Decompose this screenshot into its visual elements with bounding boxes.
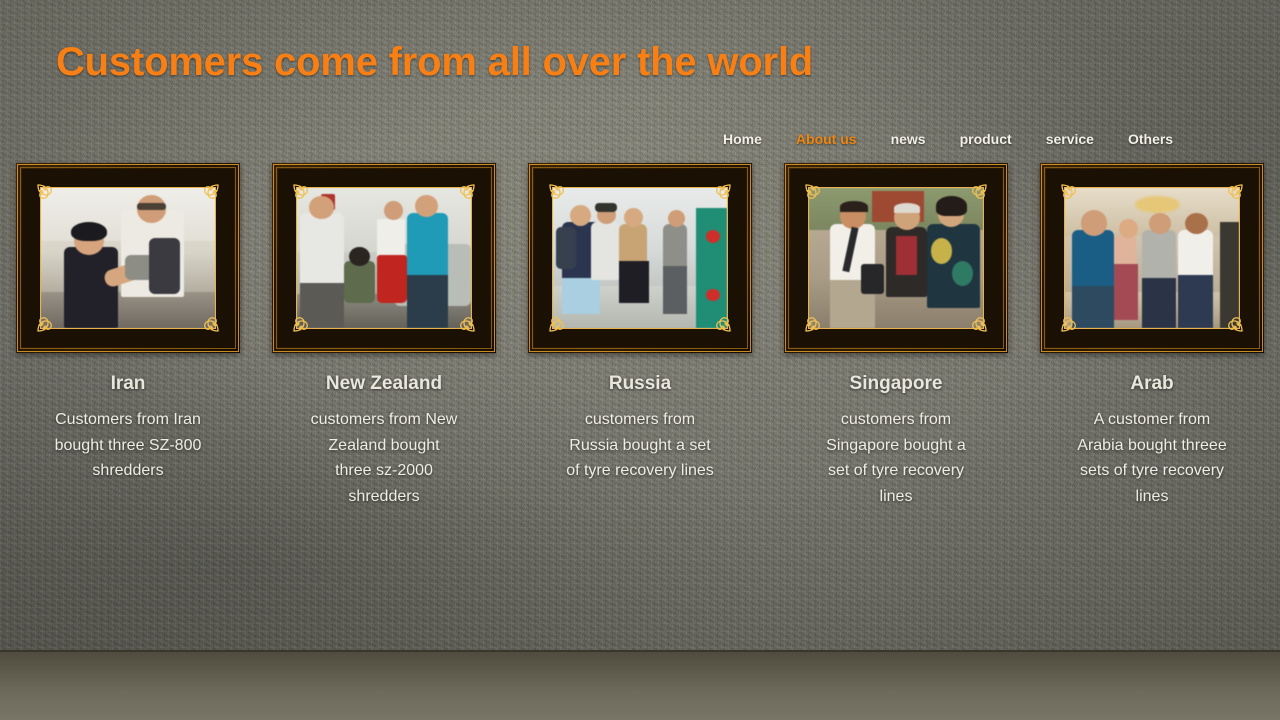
photo-clip — [552, 187, 728, 329]
photo-frame-inner — [534, 169, 746, 347]
customer-card-list: Iran Customers from Iran bought three SZ… — [0, 163, 1280, 509]
photo-iran — [41, 188, 215, 328]
photo-frame-arab[interactable] — [1040, 163, 1264, 353]
customer-card-russia: Russia customers from Russia bought a se… — [512, 163, 768, 509]
main-navigation: Home About us news product service Other… — [706, 129, 1190, 149]
nav-item-service[interactable]: service — [1029, 129, 1111, 149]
photo-frame-inner — [278, 169, 490, 347]
photo-frame-new-zealand[interactable] — [272, 163, 496, 353]
footer-band — [0, 650, 1280, 720]
photo-russia — [553, 188, 727, 328]
card-description: A customer from Arabia bought threee set… — [1077, 407, 1227, 509]
photo-frame-iran[interactable] — [16, 163, 240, 353]
customer-card-arab: Arab A customer from Arabia bought three… — [1024, 163, 1280, 509]
photo-singapore — [809, 188, 983, 328]
photo-new-zealand — [297, 188, 471, 328]
card-country-label: Singapore — [850, 373, 943, 395]
photo-clip — [40, 187, 216, 329]
card-country-label: Iran — [111, 373, 146, 395]
card-description: Customers from Iran bought three SZ-800 … — [51, 407, 206, 484]
card-description: customers from New Zealand bought three … — [309, 407, 459, 509]
nav-item-others[interactable]: Others — [1111, 129, 1190, 149]
customer-card-new-zealand: New Zealand customers from New Zealand b… — [256, 163, 512, 509]
page-title: Customers come from all over the world — [56, 40, 813, 85]
photo-frame-inner — [22, 169, 234, 347]
nav-item-news[interactable]: news — [874, 129, 943, 149]
photo-arab — [1065, 188, 1239, 328]
photo-frame-russia[interactable] — [528, 163, 752, 353]
card-country-label: New Zealand — [326, 373, 442, 395]
nav-item-about-us[interactable]: About us — [779, 129, 874, 149]
nav-item-product[interactable]: product — [943, 129, 1029, 149]
photo-frame-inner — [790, 169, 1002, 347]
photo-clip — [1064, 187, 1240, 329]
card-country-label: Arab — [1130, 373, 1173, 395]
photo-frame-singapore[interactable] — [784, 163, 1008, 353]
nav-item-home[interactable]: Home — [706, 129, 779, 149]
photo-clip — [296, 187, 472, 329]
slide: Customers come from all over the world H… — [0, 0, 1280, 720]
card-description: customers from Russia bought a set of ty… — [565, 407, 715, 484]
card-country-label: Russia — [609, 373, 671, 395]
photo-frame-inner — [1046, 169, 1258, 347]
customer-card-singapore: Singapore customers from Singapore bough… — [768, 163, 1024, 509]
photo-clip — [808, 187, 984, 329]
customer-card-iran: Iran Customers from Iran bought three SZ… — [0, 163, 256, 509]
card-description: customers from Singapore bought a set of… — [824, 407, 969, 509]
